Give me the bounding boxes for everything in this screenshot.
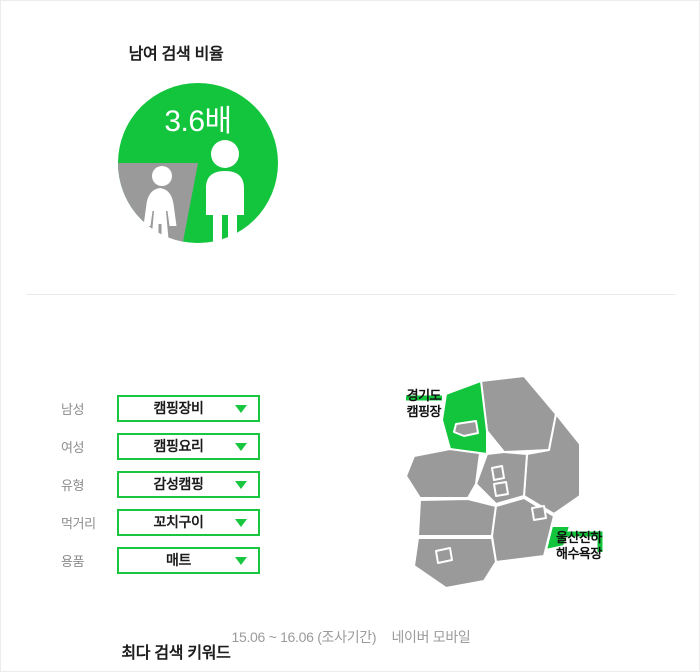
gender-ratio-value: 3.6배: [118, 96, 278, 140]
map-region-daegu: [532, 506, 546, 520]
map-region-gyeonggi-highlight: [442, 381, 487, 454]
keyword-value-food: 꼬치구이: [154, 512, 204, 532]
chevron-down-icon[interactable]: [235, 405, 247, 413]
keyword-label-food: 먹거리: [61, 513, 117, 532]
footer-source: 네이버 모바일: [391, 629, 470, 645]
map-annotation-gyeonggi: 경기도 캠핑장: [386, 388, 441, 420]
chevron-down-icon[interactable]: [235, 519, 247, 527]
map-region-jeonbuk: [418, 499, 496, 536]
keyword-value-gear: 매트: [166, 550, 191, 570]
map-region-gangwon: [481, 376, 556, 452]
map-annotation-ulsan-line2: 해수욕장: [556, 546, 602, 562]
footer-period: 15.06 ~ 16.06 (조사기간): [231, 629, 376, 645]
map-region-daejeon: [494, 482, 508, 496]
keyword-select-female[interactable]: 캠핑요리: [117, 433, 260, 460]
keyword-label-female: 여성: [61, 437, 117, 456]
map-region-seoul: [454, 421, 478, 436]
chevron-down-icon[interactable]: [235, 557, 247, 565]
keyword-select-male[interactable]: 캠핑장비: [117, 395, 260, 422]
keyword-label-male: 남성: [61, 399, 117, 418]
gender-ratio-panel: 남여 검색 비율 3.6배: [1, 1, 351, 291]
age-search-panel: 연령별 검색 10대 20대 30대 40대 50대 (50대이상): [351, 1, 700, 291]
keyword-row-type: 유형 감성캠핑: [61, 469, 271, 499]
map-annotation-ulsan-line1: 울산진하: [556, 530, 602, 546]
keyword-select-type[interactable]: 감성캠핑: [117, 471, 260, 498]
keyword-row-gear: 용품 매트: [61, 545, 271, 575]
keyword-value-male: 캠핑장비: [154, 398, 204, 418]
footer: 15.06 ~ 16.06 (조사기간) 네이버 모바일: [1, 627, 700, 647]
map-region-jeonnam: [414, 538, 496, 588]
keyword-value-female: 캠핑요리: [154, 436, 204, 456]
keyword-row-male: 남성 캠핑장비: [61, 393, 271, 423]
gender-panel-title: 남여 검색 비율: [1, 40, 351, 64]
keyword-label-gear: 용품: [61, 551, 117, 570]
keyword-label-type: 유형: [61, 475, 117, 494]
map-annotation-gyeonggi-line1: 경기도: [386, 388, 441, 404]
map-region-chungnam: [406, 449, 480, 498]
map-region-gwangju: [436, 548, 452, 563]
top-keywords-panel: 최다 검색 키워드 남성 캠핑장비 여성 캠핑요리 유형 감성캠핑 먹거리: [1, 295, 351, 615]
chevron-down-icon[interactable]: [235, 481, 247, 489]
map-annotation-gyeonggi-line2: 캠핑장: [386, 404, 441, 420]
keyword-row-female: 여성 캠핑요리: [61, 431, 271, 461]
map-annotation-ulsan: 울산진하 해수욕장: [556, 530, 602, 562]
keyword-value-type: 감성캠핑: [154, 474, 204, 494]
chevron-down-icon[interactable]: [235, 443, 247, 451]
keyword-select-gear[interactable]: 매트: [117, 547, 260, 574]
infographic-root: 남여 검색 비율 3.6배 연령별 검색: [0, 0, 700, 672]
keyword-select-food[interactable]: 꼬치구이: [117, 509, 260, 536]
keyword-row-food: 먹거리 꼬치구이: [61, 507, 271, 537]
map-region-sejong: [492, 466, 504, 480]
